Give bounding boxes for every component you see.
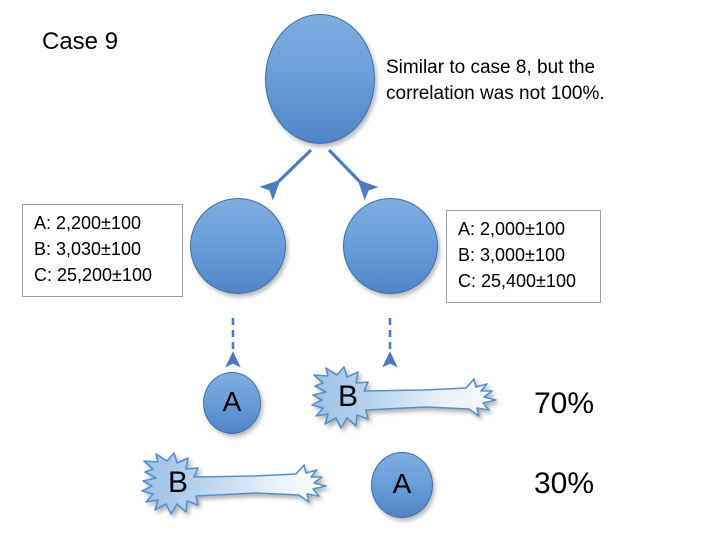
outcome-row2-explosion-b-label: B — [168, 468, 188, 498]
outcome-row1-circle-a-label: A — [223, 388, 242, 418]
outcome-row2-explosion-b[interactable]: B — [136, 452, 346, 520]
data-box-left-line-a: A: 2,200±100 — [34, 211, 172, 237]
outcome-row1-explosion-b[interactable]: B — [306, 366, 516, 434]
branch-node-right-circle[interactable] — [343, 198, 438, 294]
outcome-row1-circle-a[interactable]: A — [203, 372, 261, 434]
outcome-row2-percent: 30% — [534, 469, 594, 499]
outcome-row2-circle-a-label: A — [393, 470, 412, 500]
note-text: Similar to case 8, but the correlation w… — [386, 55, 676, 107]
page-title: Case 9 — [42, 28, 118, 57]
arrow-root-to-right — [329, 150, 364, 186]
outcome-row1-percent: 70% — [534, 389, 594, 419]
data-box-right[interactable]: A: 2,000±100 B: 3,000±100 C: 25,400±100 — [446, 210, 601, 303]
data-box-left[interactable]: A: 2,200±100 B: 3,030±100 C: 25,200±100 — [22, 204, 183, 297]
slide-canvas: Case 9 Similar to case 8, but the correl… — [0, 0, 720, 540]
data-box-right-line-c: C: 25,400±100 — [458, 269, 590, 295]
branch-node-left-circle[interactable] — [190, 198, 286, 294]
data-box-left-line-c: C: 25,200±100 — [34, 263, 172, 289]
data-box-left-line-b: B: 3,030±100 — [34, 237, 172, 263]
data-box-right-line-b: B: 3,000±100 — [458, 243, 590, 269]
outcome-row2-circle-a[interactable]: A — [371, 452, 433, 518]
outcome-row1-explosion-b-label: B — [338, 382, 358, 412]
arrow-root-to-left — [274, 150, 311, 186]
root-node-circle[interactable] — [265, 14, 375, 144]
data-box-right-line-a: A: 2,000±100 — [458, 217, 590, 243]
